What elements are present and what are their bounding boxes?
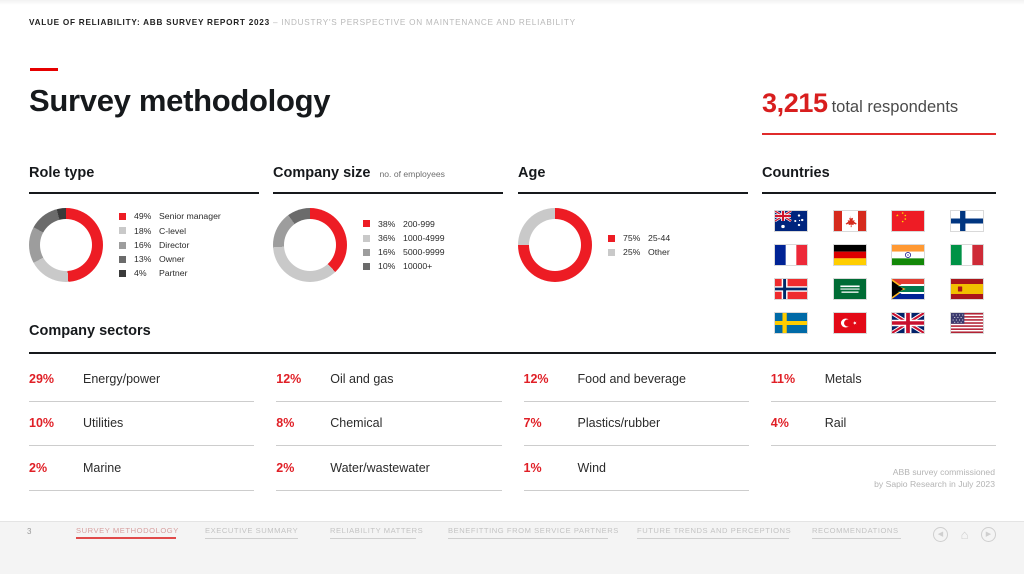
footer-nav-label: FUTURE TRENDS AND PERCEPTIONS: [637, 526, 791, 535]
footer-nav-underline: [812, 538, 901, 539]
survey-credit: ABB survey commissioned by Sapio Researc…: [874, 466, 995, 491]
section-header: Role type: [29, 165, 259, 181]
sector-label: Chemical: [330, 416, 382, 430]
title-accent-rule: [30, 68, 58, 71]
legend-item: 13%Owner: [119, 255, 221, 264]
section-rule: [518, 192, 748, 194]
footer-nav-underline: [448, 538, 608, 539]
countries-header: Countries: [762, 165, 996, 181]
legend-item: 25%Other: [608, 248, 670, 257]
legend-percent: 13%: [134, 255, 159, 264]
sector-percent: 12%: [276, 372, 330, 386]
donut-chart: [29, 208, 103, 282]
flag-canada-icon: [833, 210, 867, 232]
countries-title: Countries: [762, 165, 830, 181]
sector-row: 10%Utilities: [29, 402, 254, 447]
stat-section-company-size: Company sizeno. of employees38%200-99936…: [273, 165, 503, 282]
legend-item: 16%Director: [119, 241, 221, 250]
legend-label: 25-44: [648, 234, 670, 243]
section-title: Company size: [273, 165, 371, 181]
sector-label: Oil and gas: [330, 372, 393, 386]
legend-item: 38%200-999: [363, 220, 445, 229]
sector-percent: 2%: [29, 461, 83, 475]
donut-row: 49%Senior manager18%C-level16%Director13…: [29, 208, 259, 282]
sector-row: 8%Chemical: [276, 402, 501, 447]
section-title: Age: [518, 165, 545, 181]
legend-percent: 4%: [134, 269, 159, 278]
sector-row: 7%Plastics/rubber: [524, 402, 749, 447]
donut-chart: [273, 208, 347, 282]
donut-row: 75%25-4425%Other: [518, 208, 748, 282]
donut-chart: [518, 208, 592, 282]
legend-swatch: [363, 220, 370, 227]
legend-percent: 75%: [623, 234, 648, 243]
footer-nav-executive-summary[interactable]: EXECUTIVE SUMMARY: [205, 526, 298, 539]
sector-label: Utilities: [83, 416, 123, 430]
company-sectors-rule: [29, 352, 996, 354]
legend-label: 5000-9999: [403, 248, 445, 257]
legend-swatch: [363, 249, 370, 256]
flag-china-icon: [891, 210, 925, 232]
footer-nav-label: RECOMMENDATIONS: [812, 526, 899, 535]
legend-swatch: [608, 249, 615, 256]
next-page-icon: ▶: [986, 531, 991, 538]
legend-label: Other: [648, 248, 670, 257]
legend-swatch: [119, 227, 126, 234]
respondents-number: 3,215: [762, 88, 828, 118]
legend-label: C-level: [159, 227, 186, 236]
flag-italy-icon: [950, 244, 984, 266]
page-title: Survey methodology: [29, 83, 330, 119]
legend-label: Partner: [159, 269, 188, 278]
home-button[interactable]: ⌂: [957, 527, 972, 542]
sector-percent: 7%: [524, 416, 578, 430]
footer-nav-future-trends-and-perceptions[interactable]: FUTURE TRENDS AND PERCEPTIONS: [637, 526, 789, 539]
navigation-controls: ◀⌂▶: [933, 527, 996, 542]
sector-label: Marine: [83, 461, 121, 475]
flag-germany-icon: [833, 244, 867, 266]
flag-united-states-icon: [950, 312, 984, 334]
legend-swatch: [363, 263, 370, 270]
sector-row: 12%Oil and gas: [276, 357, 501, 402]
section-header: Age: [518, 165, 748, 181]
legend-swatch: [363, 235, 370, 242]
footer-nav-label: SURVEY METHODOLOGY: [76, 526, 179, 535]
sector-percent: 29%: [29, 372, 83, 386]
legend-item: 75%25-44: [608, 234, 670, 243]
slide-canvas: VALUE OF RELIABILITY: ABB SURVEY REPORT …: [0, 0, 1024, 574]
flag-norway-icon: [774, 278, 808, 300]
sector-row: 11%Metals: [771, 357, 996, 402]
flag-france-icon: [774, 244, 808, 266]
sector-label: Metals: [825, 372, 862, 386]
respondents-underline: [762, 133, 996, 135]
sector-label: Wind: [578, 461, 606, 475]
page-number: 3: [27, 527, 31, 536]
stat-section-age: Age75%25-4425%Other: [518, 165, 748, 282]
sector-row: 12%Food and beverage: [524, 357, 749, 402]
flag-united-kingdom-icon: [891, 312, 925, 334]
section-rule: [29, 192, 259, 194]
legend-item: 49%Senior manager: [119, 212, 221, 221]
credit-line-2: by Sapio Research in July 2023: [874, 478, 995, 490]
flag-turkey-icon: [833, 312, 867, 334]
footer-nav-label: EXECUTIVE SUMMARY: [205, 526, 298, 535]
sector-row: 2%Water/wastewater: [276, 446, 501, 491]
section-subtitle: no. of employees: [380, 169, 445, 179]
flag-finland-icon: [950, 210, 984, 232]
country-flag-grid: [762, 210, 996, 334]
sector-row: 1%Wind: [524, 446, 749, 491]
legend-label: 10000+: [403, 262, 432, 271]
sector-percent: 1%: [524, 461, 578, 475]
legend-item: 4%Partner: [119, 269, 221, 278]
section-header: Company sizeno. of employees: [273, 165, 503, 181]
legend-percent: 16%: [134, 241, 159, 250]
legend-percent: 38%: [378, 220, 403, 229]
legend-item: 36%1000-4999: [363, 234, 445, 243]
top-edge-strip: [0, 0, 1024, 5]
flag-australia-icon: [774, 210, 808, 232]
sector-column: 12%Food and beverage7%Plastics/rubber1%W…: [524, 357, 749, 491]
total-respondents: 3,215total respondents: [762, 88, 996, 119]
sector-label: Plastics/rubber: [578, 416, 661, 430]
countries-rule: [762, 192, 996, 194]
company-sectors-title: Company sectors: [29, 323, 151, 339]
company-sectors-grid: 29%Energy/power10%Utilities2%Marine12%Oi…: [29, 357, 996, 491]
sector-label: Energy/power: [83, 372, 160, 386]
sector-row: 4%Rail: [771, 402, 996, 447]
footer-nav-underline: [637, 538, 789, 539]
sector-percent: 10%: [29, 416, 83, 430]
sector-row: 2%Marine: [29, 446, 254, 491]
sector-percent: 11%: [771, 372, 825, 386]
sector-column: 29%Energy/power10%Utilities2%Marine: [29, 357, 254, 491]
flag-saudi-arabia-icon: [833, 278, 867, 300]
legend-percent: 16%: [378, 248, 403, 257]
sector-percent: 8%: [276, 416, 330, 430]
legend-swatch: [608, 235, 615, 242]
running-head-bold: VALUE OF RELIABILITY: ABB SURVEY REPORT …: [29, 18, 270, 27]
donut-legend: 75%25-4425%Other: [608, 234, 670, 257]
legend-label: Senior manager: [159, 212, 221, 221]
legend-swatch: [119, 256, 126, 263]
footer-nav-label: BENEFITTING FROM SERVICE PARTNERS: [448, 526, 619, 535]
sector-label: Rail: [825, 416, 847, 430]
donut-legend: 49%Senior manager18%C-level16%Director13…: [119, 212, 221, 278]
sector-row: 29%Energy/power: [29, 357, 254, 402]
sector-percent: 2%: [276, 461, 330, 475]
legend-label: 1000-4999: [403, 234, 445, 243]
donut-legend: 38%200-99936%1000-499916%5000-999910%100…: [363, 220, 445, 271]
footer-nav-underline: [205, 538, 298, 539]
sector-label: Water/wastewater: [330, 461, 430, 475]
credit-line-1: ABB survey commissioned: [874, 466, 995, 478]
section-title: Role type: [29, 165, 94, 181]
donut-row: 38%200-99936%1000-499916%5000-999910%100…: [273, 208, 503, 282]
flag-spain-icon: [950, 278, 984, 300]
home-icon: ⌂: [961, 528, 969, 541]
sector-label: Food and beverage: [578, 372, 686, 386]
section-rule: [273, 192, 503, 194]
legend-label: Owner: [159, 255, 185, 264]
legend-percent: 25%: [623, 248, 648, 257]
countries-section: Countries: [762, 165, 996, 334]
next-page-button[interactable]: ▶: [981, 527, 996, 542]
sector-percent: 4%: [771, 416, 825, 430]
flag-india-icon: [891, 244, 925, 266]
legend-percent: 49%: [134, 212, 159, 221]
legend-label: Director: [159, 241, 189, 250]
legend-label: 200-999: [403, 220, 435, 229]
footer-nav-recommendations[interactable]: RECOMMENDATIONS: [812, 526, 901, 539]
legend-percent: 10%: [378, 262, 403, 271]
legend-item: 16%5000-9999: [363, 248, 445, 257]
prev-page-button[interactable]: ◀: [933, 527, 948, 542]
flag-south-africa-icon: [891, 278, 925, 300]
legend-percent: 36%: [378, 234, 403, 243]
respondents-label: total respondents: [832, 98, 959, 116]
legend-item: 18%C-level: [119, 227, 221, 236]
running-head: VALUE OF RELIABILITY: ABB SURVEY REPORT …: [29, 18, 576, 27]
legend-swatch: [119, 213, 126, 220]
legend-swatch: [119, 242, 126, 249]
legend-percent: 18%: [134, 227, 159, 236]
running-head-light: – INDUSTRY'S PERSPECTIVE ON MAINTENANCE …: [273, 18, 576, 27]
footer-divider: [0, 521, 1024, 522]
footer-nav-underline: [76, 537, 176, 539]
footer-nav-reliability-matters[interactable]: RELIABILITY MATTERS: [330, 526, 416, 539]
stat-section-role-type: Role type49%Senior manager18%C-level16%D…: [29, 165, 259, 282]
legend-swatch: [119, 270, 126, 277]
flag-sweden-icon: [774, 312, 808, 334]
sector-column: 12%Oil and gas8%Chemical2%Water/wastewat…: [276, 357, 501, 491]
footer-nav-underline: [330, 538, 416, 539]
legend-item: 10%10000+: [363, 262, 445, 271]
footer-nav-label: RELIABILITY MATTERS: [330, 526, 423, 535]
footer-nav-benefitting-from-service-partners[interactable]: BENEFITTING FROM SERVICE PARTNERS: [448, 526, 608, 539]
prev-page-icon: ◀: [938, 531, 943, 538]
footer-nav-survey-methodology[interactable]: SURVEY METHODOLOGY: [76, 526, 176, 539]
sector-percent: 12%: [524, 372, 578, 386]
